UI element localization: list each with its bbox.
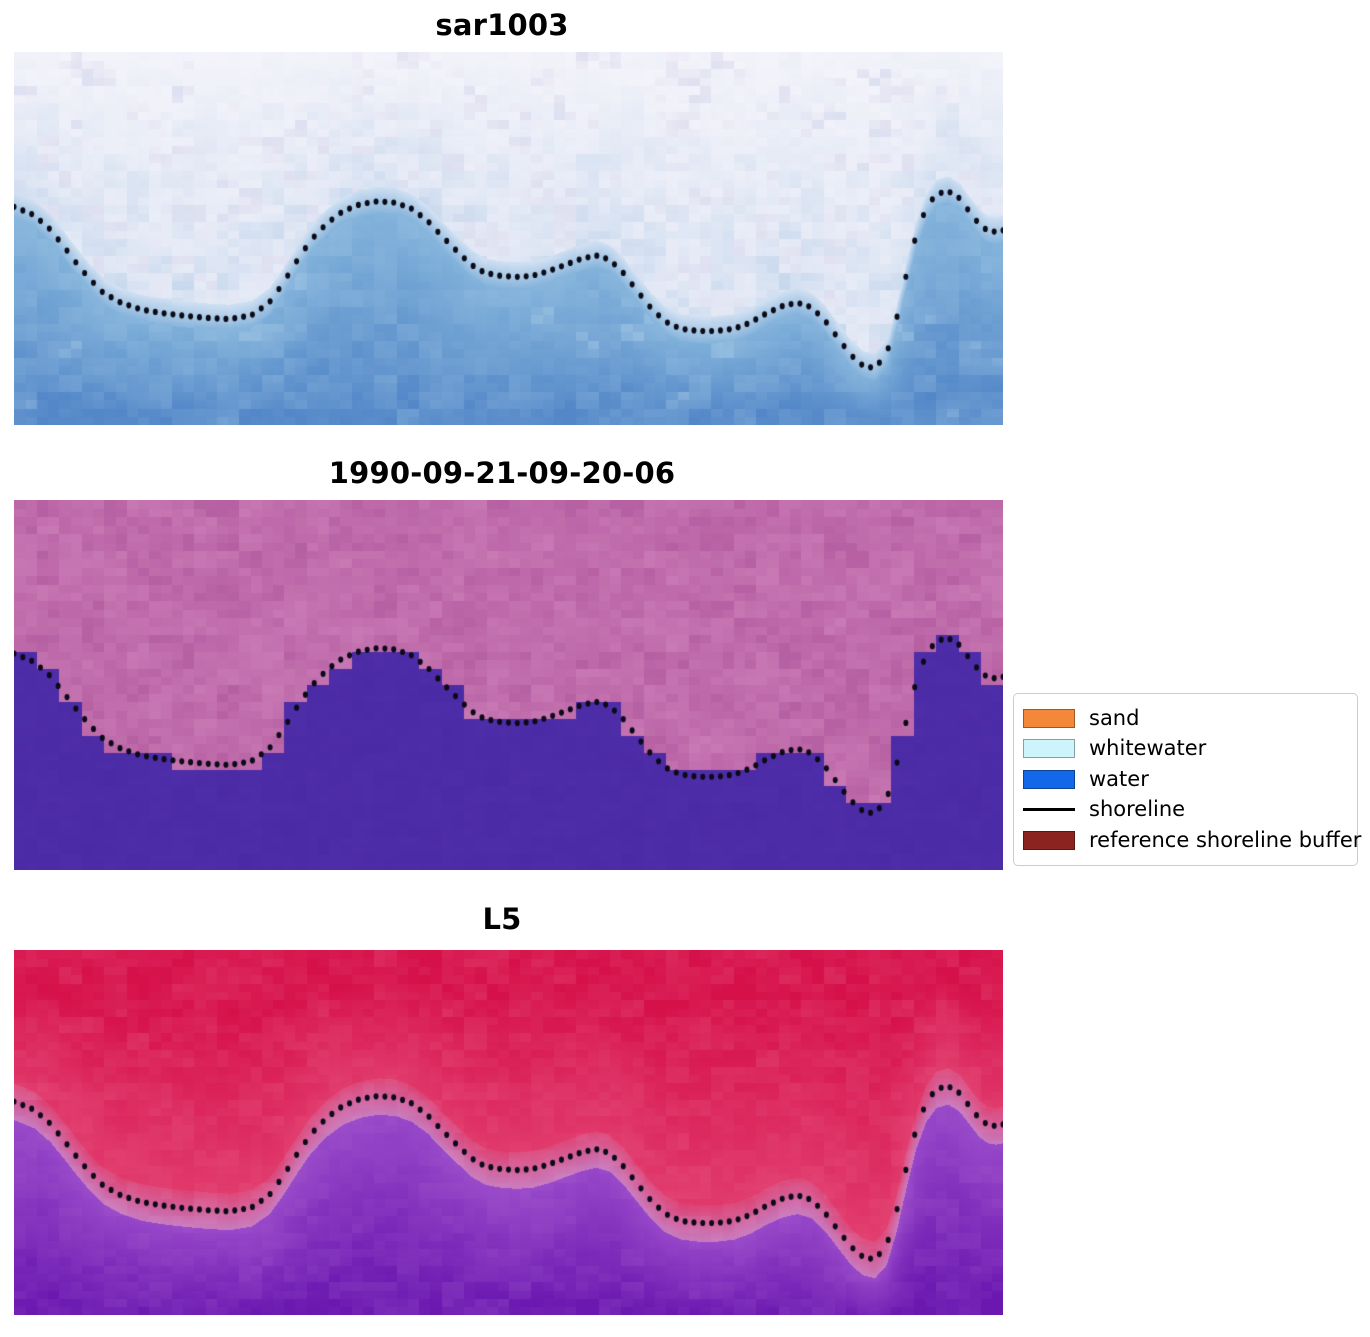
axes-l5-image [14, 950, 1003, 1315]
axes-sar-image [14, 52, 1003, 425]
legend-label-reference-buffer: reference shoreline buffer [1089, 830, 1361, 851]
water-swatch-icon [1023, 770, 1075, 789]
legend-item-whitewater: whitewater [1023, 734, 1347, 765]
classification-raster [14, 500, 1003, 870]
shoreline-line-icon [1023, 800, 1075, 819]
axes-classification-image [14, 500, 1003, 870]
legend-box: sand whitewater water shoreline referenc… [1013, 693, 1358, 866]
reference-buffer-swatch-icon [1023, 831, 1075, 850]
sand-swatch-icon [1023, 709, 1075, 728]
legend-item-shoreline: shoreline [1023, 795, 1347, 826]
whitewater-swatch-icon [1023, 739, 1075, 758]
figure-canvas: sar1003 1990-09-21-09-20-06 L5 sand whit… [0, 0, 1370, 1337]
legend-item-water: water [1023, 764, 1347, 795]
panel-title-l5: L5 [0, 902, 1004, 936]
legend-label-whitewater: whitewater [1089, 738, 1206, 759]
legend-label-shoreline: shoreline [1089, 799, 1185, 820]
legend-item-sand: sand [1023, 703, 1347, 734]
legend-item-reference-buffer: reference shoreline buffer [1023, 825, 1347, 856]
legend-label-sand: sand [1089, 708, 1139, 729]
l5-raster [14, 950, 1003, 1315]
sar-raster [14, 52, 1003, 425]
legend-label-water: water [1089, 769, 1149, 790]
panel-title-classified: 1990-09-21-09-20-06 [0, 456, 1004, 490]
panel-title-sar: sar1003 [0, 8, 1004, 42]
